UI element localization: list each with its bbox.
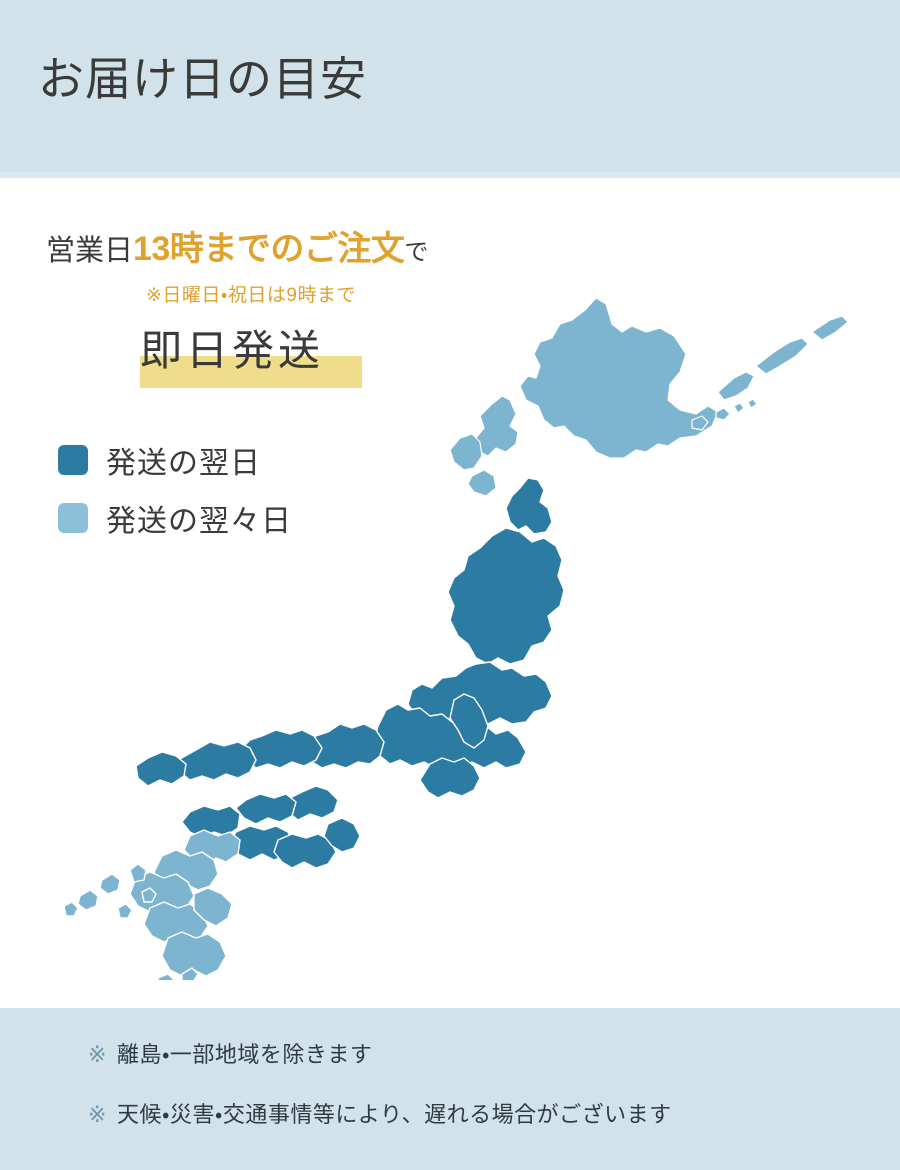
order-cutoff-time: 13時までのご注文 bbox=[133, 230, 404, 268]
footnote-text-1: 離島・一部地域を除きます bbox=[117, 1042, 372, 1067]
order-cutoff-prefix: 営業日 bbox=[46, 235, 133, 267]
footnote-remote-islands: ※離島・一部地域を除きます bbox=[88, 1037, 372, 1069]
page-title: お届け日の目安 bbox=[38, 52, 367, 107]
footnote-delays: ※天候・災害・交通事情等により、遅れる場合がございます bbox=[88, 1097, 672, 1129]
delivery-estimate-page: お届け日の目安 営業日13時までのご注文で ※日曜日・祝日は9時まで 即日発送 … bbox=[0, 0, 900, 1170]
footnote-mark-icon: ※ bbox=[88, 1042, 107, 1067]
order-cutoff-suffix: で bbox=[404, 239, 428, 266]
footnote-mark-icon: ※ bbox=[88, 1102, 107, 1127]
order-cutoff-line: 営業日13時までのご注文で bbox=[46, 228, 428, 271]
header-divider bbox=[0, 172, 900, 178]
footnote-text-2: 天候・災害・交通事情等により、遅れる場合がございます bbox=[117, 1102, 672, 1127]
map-region-hokkaido bbox=[450, 298, 848, 496]
map-region-honshu-next-day bbox=[136, 478, 564, 798]
map-region-kyushu bbox=[64, 830, 240, 980]
japan-shipping-map bbox=[40, 280, 900, 980]
page-footer bbox=[0, 1008, 900, 1170]
